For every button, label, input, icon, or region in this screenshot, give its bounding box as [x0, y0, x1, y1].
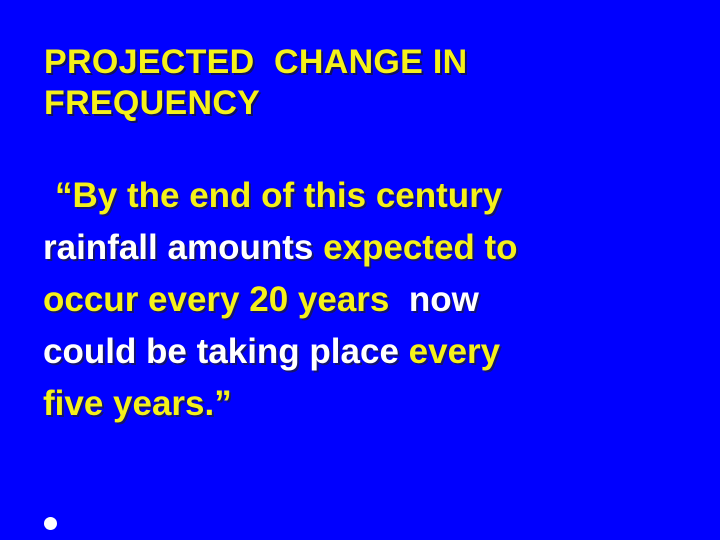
quote-line-5: five years.”: [43, 378, 673, 430]
quote-run: now: [389, 280, 478, 319]
quote-run: rainfall amounts: [43, 228, 323, 267]
quote-run: every: [409, 332, 500, 371]
quote-line-3: occur every 20 years now: [43, 274, 673, 326]
quote-run: “By the end of this century: [55, 176, 502, 215]
slide-title: PROJECTED CHANGE IN FREQUENCY: [44, 42, 644, 124]
quote-line-1: “By the end of this century: [43, 170, 673, 222]
bullet-dot-icon: [44, 517, 57, 530]
quote-run: five years.”: [43, 384, 232, 423]
quote-run: could be taking place: [43, 332, 409, 371]
quote-line-4: could be taking place every: [43, 326, 673, 378]
presentation-slide: PROJECTED CHANGE IN FREQUENCY “By the en…: [0, 0, 720, 540]
slide-body-quote: “By the end of this centuryrainfall amou…: [43, 170, 673, 430]
quote-run: expected to: [323, 228, 518, 267]
quote-line-2: rainfall amounts expected to: [43, 222, 673, 274]
bullet-list-item[interactable]: [44, 508, 71, 538]
quote-run: occur every 20 years: [43, 280, 389, 319]
